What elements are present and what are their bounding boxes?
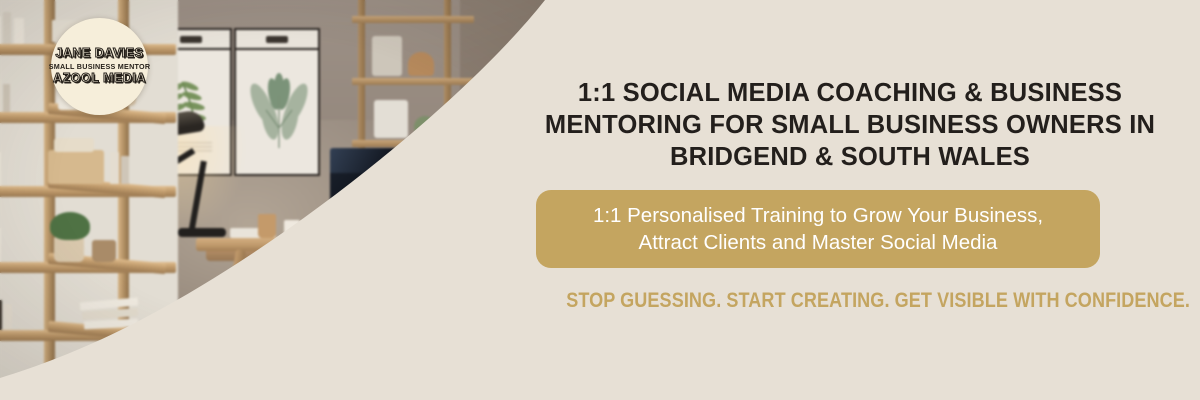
promo-banner: JANE DAVIES SMALL BUSINESS MENTOR AZOOL … [0, 0, 1200, 400]
subheadline-banner: 1:1 Personalised Training to Grow Your B… [536, 190, 1100, 268]
subheadline-text: 1:1 Personalised Training to Grow Your B… [577, 202, 1059, 256]
monitor-stand [360, 208, 394, 220]
logo-name: JANE DAVIES [56, 47, 144, 60]
logo-badge[interactable]: JANE DAVIES SMALL BUSINESS MENTOR AZOOL … [51, 18, 148, 115]
left-bookshelf [0, 0, 308, 400]
hero-headline: 1:1 SOCIAL MEDIA COACHING & BUSINESS MEN… [520, 78, 1180, 174]
headline-line-2: MENTORING FOR SMALL BUSINESS OWNERS IN [520, 110, 1180, 142]
computer-monitor [330, 148, 426, 210]
hero-content: 1:1 SOCIAL MEDIA COACHING & BUSINESS MEN… [500, 0, 1200, 400]
logo-role: SMALL BUSINESS MENTOR [49, 63, 151, 71]
subheadline-line-2: Attract Clients and Master Social Media [593, 229, 1043, 256]
headline-line-1: 1:1 SOCIAL MEDIA COACHING & BUSINESS [520, 78, 1180, 110]
desk-tablet [356, 230, 410, 238]
hero-tagline: STOP GUESSING. START CREATING. GET VISIB… [566, 289, 1134, 313]
headline-line-3: BRIDGEND & SOUTH WALES [520, 142, 1180, 174]
logo-company: AZOOL MEDIA [53, 72, 146, 85]
subheadline-line-1: 1:1 Personalised Training to Grow Your B… [593, 202, 1043, 229]
